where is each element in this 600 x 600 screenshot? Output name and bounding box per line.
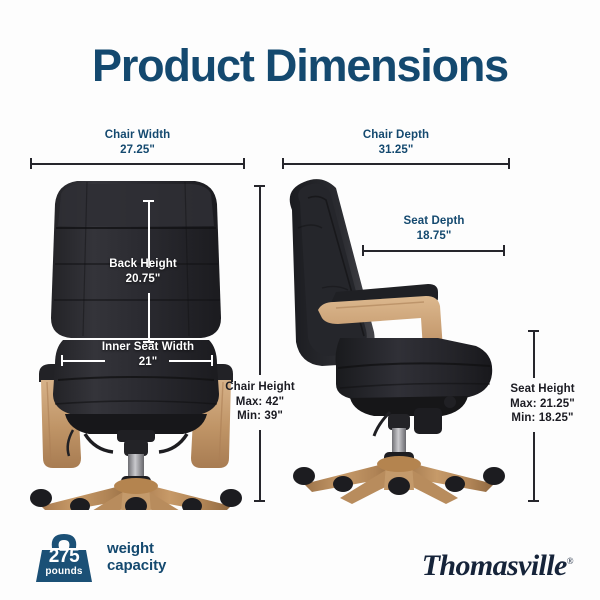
- trademark-symbol: ®: [567, 556, 573, 566]
- brand-logo: Thomasville®: [422, 545, 573, 582]
- back-height-rule-lower: [143, 293, 154, 343]
- rule-cap-bottom: [528, 500, 539, 502]
- seat-height-rule-upper: [528, 330, 539, 378]
- rule-bar: [362, 250, 505, 252]
- rule-bar: [533, 432, 535, 502]
- infographic-canvas: Product Dimensions Chair Width 27.25": [0, 0, 600, 600]
- rule-bar: [259, 185, 261, 375]
- inner-seat-width-rule-left: [61, 355, 105, 366]
- rule-bar: [61, 360, 105, 362]
- brand-name: Thomasville: [422, 549, 567, 582]
- rule-bar: [148, 293, 150, 343]
- kettlebell-icon: 275 pounds: [30, 530, 98, 584]
- rule-bar: [169, 360, 213, 362]
- chair-width-label: Chair Width 27.25": [30, 128, 245, 157]
- caption-line-1: weight: [107, 540, 166, 557]
- rule-bar: [259, 430, 261, 502]
- weight-capacity-caption: weight capacity: [107, 540, 166, 574]
- rule-cap-bottom: [254, 500, 265, 502]
- weight-number: 275: [30, 547, 98, 566]
- chair-height-rule-lower: [254, 430, 265, 502]
- weight-capacity-badge: 275 pounds weight capacity: [30, 530, 166, 584]
- inner-seat-width-rule-right: [169, 355, 213, 366]
- seat-depth-rule: [362, 245, 505, 256]
- rule-bar: [533, 330, 535, 378]
- page-title: Product Dimensions: [0, 38, 600, 94]
- seat-height-rule-lower: [528, 432, 539, 502]
- office-chair-front-illustration: [25, 168, 247, 510]
- back-height-label: Back Height 20.75": [73, 257, 213, 286]
- rule-cap-right: [211, 355, 213, 366]
- caption-line-2: capacity: [107, 557, 166, 574]
- rule-bar: [30, 163, 245, 165]
- chair-depth-label: Chair Depth 31.25": [282, 128, 510, 157]
- seat-depth-label: Seat Depth 18.75": [363, 214, 505, 243]
- chair-height-rule-upper: [254, 185, 265, 375]
- rule-bar: [282, 163, 510, 165]
- rule-cap-right: [503, 245, 505, 256]
- weight-unit: pounds: [30, 566, 98, 577]
- seat-height-label: Seat Height Max: 21.25" Min: 18.25": [490, 382, 595, 426]
